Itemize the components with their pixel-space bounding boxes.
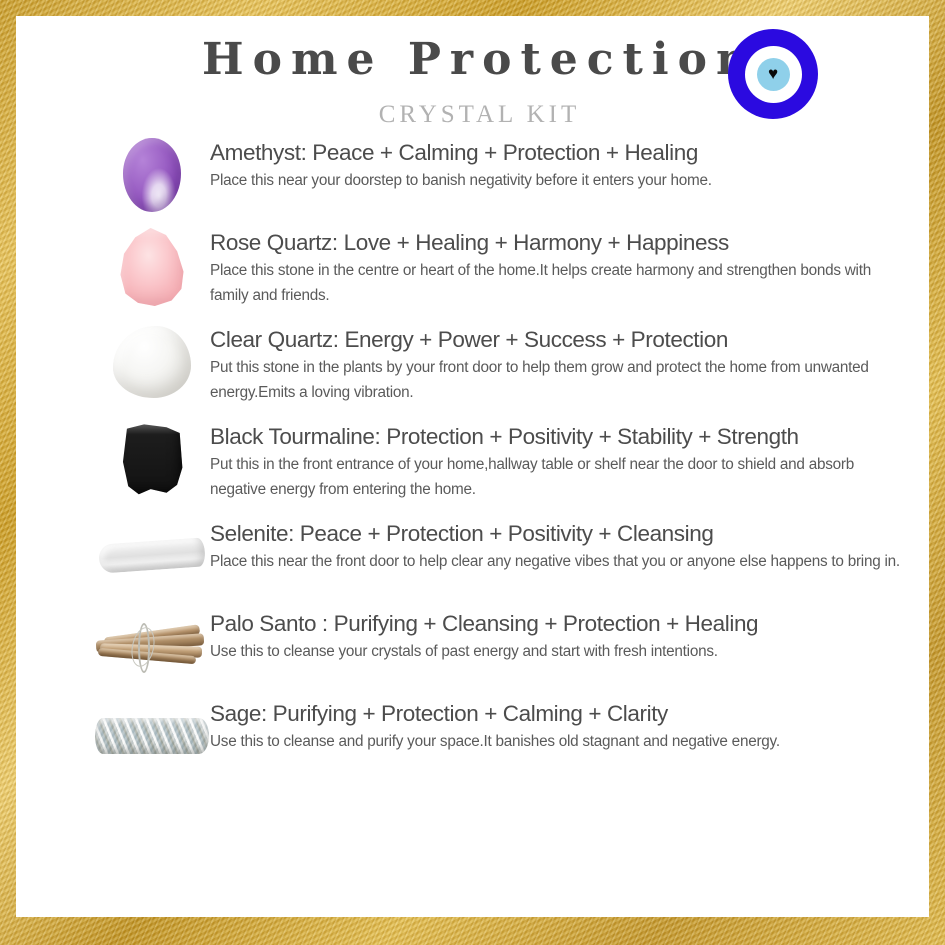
list-item: Clear Quartz: Energy + Power + Success +…	[16, 325, 929, 406]
evil-eye-icon: ♥	[728, 29, 818, 119]
list-item: Selenite: Peace + Protection + Positivit…	[16, 519, 929, 593]
stone-image-palo-santo	[94, 609, 210, 683]
list-item: Palo Santo : Purifying + Cleansing + Pro…	[16, 609, 929, 683]
list-item-title: Clear Quartz: Energy + Power + Success +…	[210, 326, 901, 353]
poster-header: Home Protection CRYSTAL KIT ♥	[16, 16, 929, 138]
palo-santo-bundle-icon	[96, 621, 208, 671]
clear-quartz-stone-icon	[113, 326, 191, 398]
list-item: Rose Quartz: Love + Healing + Harmony + …	[16, 228, 929, 309]
list-item-text: Palo Santo : Purifying + Cleansing + Pro…	[210, 609, 929, 665]
evil-eye-white-ring: ♥	[745, 46, 802, 103]
stone-image-amethyst	[94, 138, 210, 212]
list-item-description: Use this to cleanse your crystals of pas…	[210, 640, 901, 665]
amethyst-stone-icon	[123, 138, 181, 212]
stone-image-black-tourmaline	[94, 422, 210, 496]
list-item-text: Black Tourmaline: Protection + Positivit…	[210, 422, 929, 503]
sage-bundle-icon	[95, 718, 209, 754]
list-item-description: Put this in the front entrance of your h…	[210, 453, 901, 503]
list-item-title: Amethyst: Peace + Calming + Protection +…	[210, 139, 901, 166]
rose-quartz-stone-icon	[117, 228, 187, 306]
list-item-description: Put this stone in the plants by your fro…	[210, 356, 901, 406]
heart-icon: ♥	[768, 65, 778, 82]
list-item-title: Black Tourmaline: Protection + Positivit…	[210, 423, 901, 450]
list-item-text: Amethyst: Peace + Calming + Protection +…	[210, 138, 929, 194]
list-item-description: Place this near the front door to help c…	[210, 550, 901, 575]
list-item-title: Sage: Purifying + Protection + Calming +…	[210, 700, 901, 727]
list-item: Amethyst: Peace + Calming + Protection +…	[16, 138, 929, 212]
poster-gold-frame: Home Protection CRYSTAL KIT ♥ Amethyst: …	[0, 0, 945, 945]
list-item-description: Place this stone in the centre or heart …	[210, 259, 901, 309]
selenite-stone-icon	[98, 538, 206, 574]
poster-card: Home Protection CRYSTAL KIT ♥ Amethyst: …	[16, 16, 929, 917]
list-item: Black Tourmaline: Protection + Positivit…	[16, 422, 929, 503]
stone-image-selenite	[94, 519, 210, 593]
list-item-description: Use this to cleanse and purify your spac…	[210, 730, 901, 755]
list-item-text: Sage: Purifying + Protection + Calming +…	[210, 699, 929, 755]
list-item-title: Palo Santo : Purifying + Cleansing + Pro…	[210, 610, 901, 637]
list-item-text: Selenite: Peace + Protection + Positivit…	[210, 519, 929, 575]
stone-image-sage	[94, 699, 210, 773]
list-item-text: Rose Quartz: Love + Healing + Harmony + …	[210, 228, 929, 309]
black-tourmaline-stone-icon	[119, 423, 185, 495]
stone-image-rose-quartz	[94, 228, 210, 306]
evil-eye-inner-circle: ♥	[757, 58, 790, 91]
crystal-list: Amethyst: Peace + Calming + Protection +…	[16, 138, 929, 773]
list-item-text: Clear Quartz: Energy + Power + Success +…	[210, 325, 929, 406]
list-item: Sage: Purifying + Protection + Calming +…	[16, 699, 929, 773]
list-item-description: Place this near your doorstep to banish …	[210, 169, 901, 194]
list-item-title: Selenite: Peace + Protection + Positivit…	[210, 520, 901, 547]
list-item-title: Rose Quartz: Love + Healing + Harmony + …	[210, 229, 901, 256]
stone-image-clear-quartz	[94, 325, 210, 399]
